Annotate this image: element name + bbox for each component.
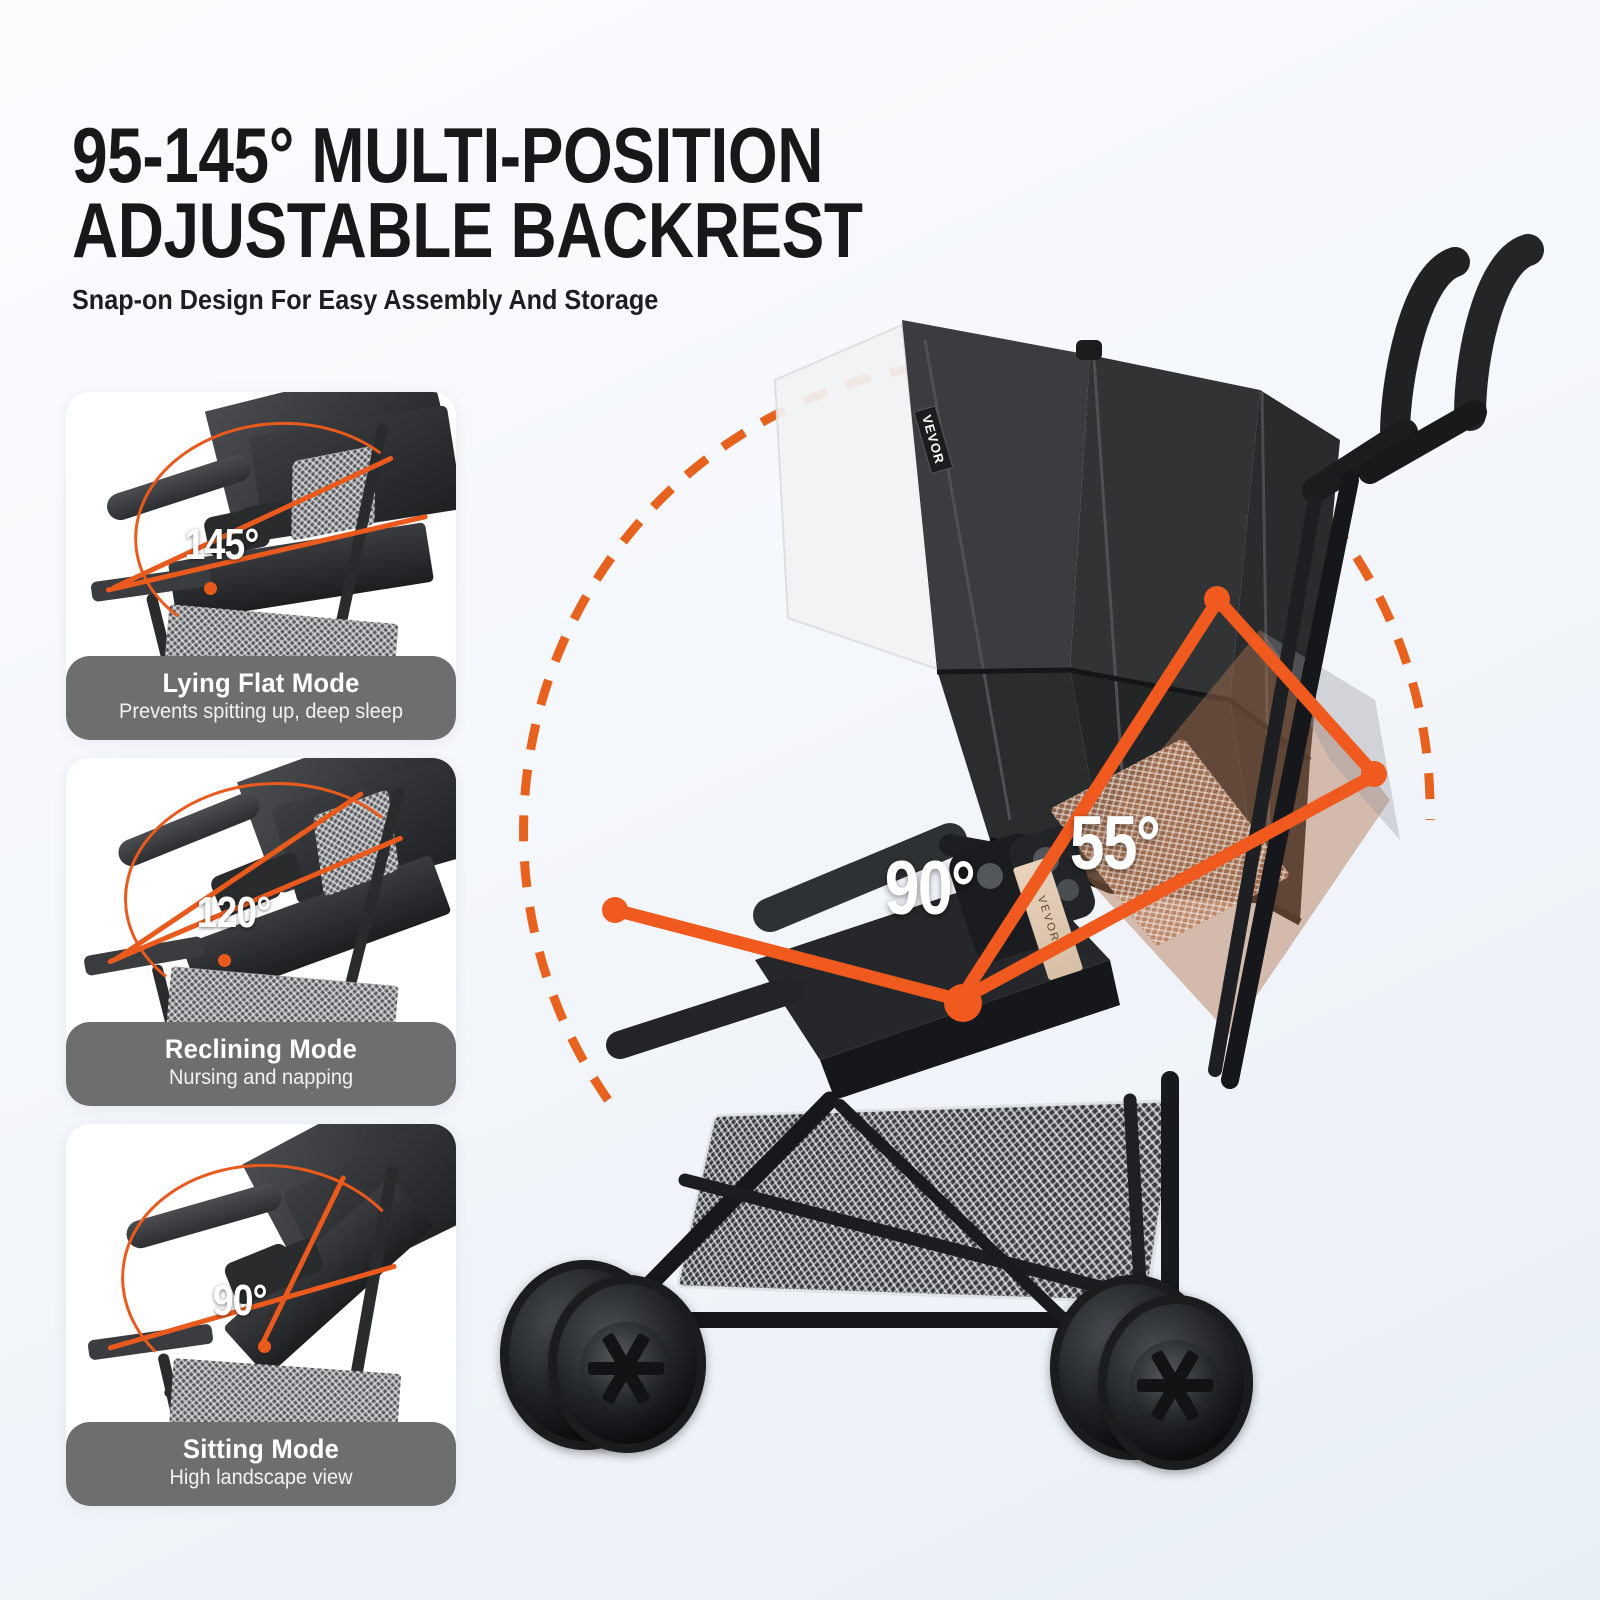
angle-ray-55-bottom <box>960 775 1375 1000</box>
card-subtitle: Prevents spitting up, deep sleep <box>85 700 437 724</box>
hero-angle-label-55: 55° <box>1070 800 1159 887</box>
card-label-bar-lying-flat: Lying Flat Mode Prevents spitting up, de… <box>66 656 456 740</box>
angle-vertex-dot <box>218 954 231 967</box>
mode-card-reclining[interactable]: 120° Reclining Mode Nursing and napping <box>66 758 456 1106</box>
angle-endpoint-dot-top <box>1204 586 1230 612</box>
mode-card-lying-flat[interactable]: 145° Lying Flat Mode Prevents spitting u… <box>66 392 456 740</box>
card-label-bar-reclining: Reclining Mode Nursing and napping <box>66 1022 456 1106</box>
card-title: Reclining Mode <box>85 1034 437 1065</box>
angle-vertex-dot <box>258 1340 271 1353</box>
angle-ray-55-top <box>1218 600 1375 775</box>
angle-endpoint-dot-right <box>1361 761 1387 787</box>
card-subtitle: Nursing and napping <box>85 1066 437 1090</box>
card-angle-label-120: 120° <box>197 888 271 938</box>
angle-vertex-dot <box>944 984 982 1022</box>
card-title: Sitting Mode <box>85 1434 437 1465</box>
angle-lines-svg <box>470 200 1600 1600</box>
card-angle-label-145: 145° <box>185 520 259 570</box>
card-angle-label-90: 90° <box>213 1276 267 1326</box>
card-label-bar-sitting: Sitting Mode High landscape view <box>66 1422 456 1506</box>
card-subtitle: High landscape view <box>85 1466 437 1490</box>
hero-angle-label-90: 90° <box>885 845 974 932</box>
mode-card-sitting[interactable]: 90° Sitting Mode High landscape view <box>66 1124 456 1506</box>
hero-product-image: VEVOR <box>470 200 1600 1600</box>
card-title: Lying Flat Mode <box>85 668 437 699</box>
angle-vertex-dot <box>204 582 217 595</box>
angle-endpoint-dot-left <box>602 897 628 923</box>
headline-line-1: 95-145° MULTI-POSITION <box>72 118 810 193</box>
